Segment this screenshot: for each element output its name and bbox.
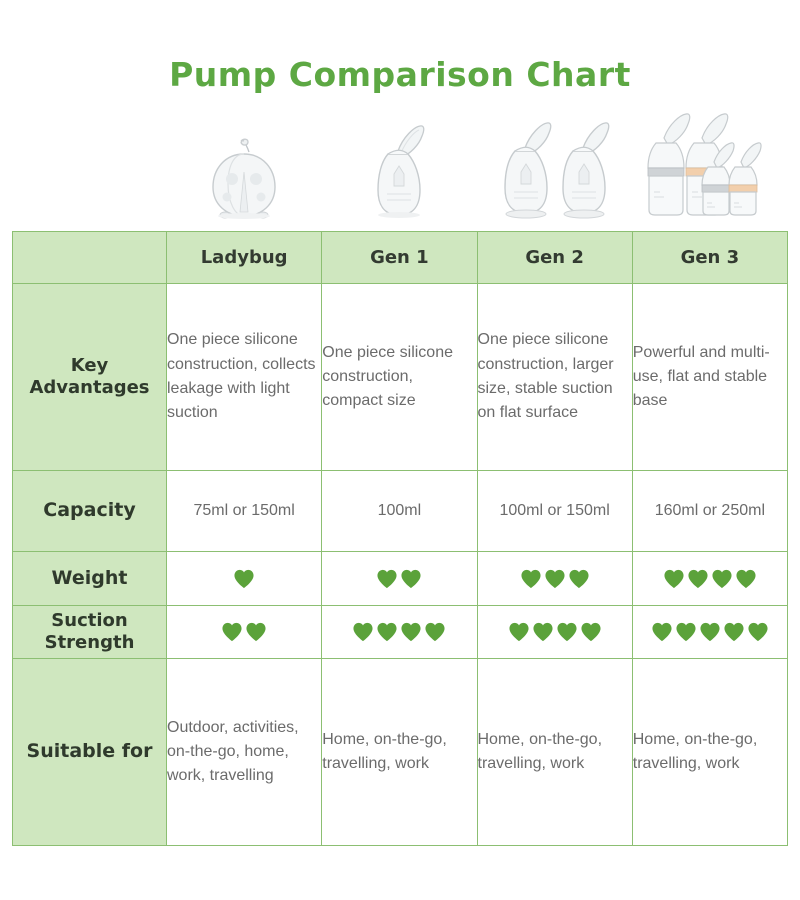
heart-icon	[675, 622, 697, 642]
table-header-row: Ladybug Gen 1 Gen 2 Gen 3	[13, 232, 788, 284]
product-image-ladybug	[167, 109, 322, 224]
cell-weight-gen-2	[477, 552, 632, 606]
cell-key-advantages-gen-3: Powerful and multi-use, flat and stable …	[632, 284, 787, 471]
cell-key-advantages-gen-2: One piece silicone construction, larger …	[477, 284, 632, 471]
row-label-suction-strength: SuctionStrength	[13, 606, 167, 659]
heart-icon	[221, 622, 243, 642]
heart-icon	[245, 622, 267, 642]
pump-comparison-table: Ladybug Gen 1 Gen 2 Gen 3 KeyAdvantagesO…	[12, 231, 788, 846]
cell-capacity-gen-2: 100ml or 150ml	[477, 471, 632, 552]
product-image-gen1	[322, 109, 477, 224]
heart-icon	[508, 622, 530, 642]
cell-key-advantages-ladybug: One piece silicone construction, collect…	[167, 284, 322, 471]
heart-icon	[424, 622, 446, 642]
table-row-capacity: Capacity75ml or 150ml100ml100ml or 150ml…	[13, 471, 788, 552]
product-image-strip	[13, 109, 788, 224]
column-header-gen1: Gen 1	[322, 232, 477, 284]
cell-capacity-gen-3: 160ml or 250ml	[632, 471, 787, 552]
heart-icon	[376, 569, 398, 589]
column-header-gen2: Gen 2	[477, 232, 632, 284]
cell-suitable-for-gen-3: Home, on-the-go, travelling, work	[632, 659, 787, 846]
cell-weight-gen-3	[632, 552, 787, 606]
heart-icon	[735, 569, 757, 589]
heart-icon	[747, 622, 769, 642]
heart-icon	[376, 622, 398, 642]
table-row-weight: Weight	[13, 552, 788, 606]
cell-weight-gen-1	[322, 552, 477, 606]
column-header-ladybug: Ladybug	[167, 232, 322, 284]
heart-icon	[651, 622, 673, 642]
product-image-gen3	[632, 109, 787, 224]
heart-icon	[711, 569, 733, 589]
cell-suitable-for-ladybug: Outdoor, activities, on-the-go, home, wo…	[167, 659, 322, 846]
heart-icon	[556, 622, 578, 642]
table-corner-cell	[13, 232, 167, 284]
product-image-gen2	[477, 109, 632, 224]
heart-icon	[544, 569, 566, 589]
table-row-key-advantages: KeyAdvantagesOne piece silicone construc…	[13, 284, 788, 471]
cell-suction-strength-gen-2	[477, 606, 632, 659]
cell-weight-ladybug	[167, 552, 322, 606]
heart-icon	[723, 622, 745, 642]
row-label-weight: Weight	[13, 552, 167, 606]
heart-icon	[532, 622, 554, 642]
table-row-suitable-for: Suitable forOutdoor, activities, on-the-…	[13, 659, 788, 846]
cell-suitable-for-gen-1: Home, on-the-go, travelling, work	[322, 659, 477, 846]
row-label-capacity: Capacity	[13, 471, 167, 552]
cell-key-advantages-gen-1: One piece silicone construction, compact…	[322, 284, 477, 471]
heart-icon	[568, 569, 590, 589]
cell-capacity-gen-1: 100ml	[322, 471, 477, 552]
heart-icon	[400, 569, 422, 589]
cell-capacity-ladybug: 75ml or 150ml	[167, 471, 322, 552]
table-body: KeyAdvantagesOne piece silicone construc…	[13, 284, 788, 846]
cell-suction-strength-gen-3	[632, 606, 787, 659]
heart-icon	[233, 569, 255, 589]
cell-suction-strength-gen-1	[322, 606, 477, 659]
row-label-suitable-for: Suitable for	[13, 659, 167, 846]
cell-suction-strength-ladybug	[167, 606, 322, 659]
heart-icon	[580, 622, 602, 642]
heart-icon	[663, 569, 685, 589]
heart-icon	[352, 622, 374, 642]
page-title: Pump Comparison Chart	[0, 0, 800, 91]
heart-icon	[699, 622, 721, 642]
table-row-suction-strength: SuctionStrength	[13, 606, 788, 659]
heart-icon	[687, 569, 709, 589]
heart-icon	[520, 569, 542, 589]
row-label-key-advantages: KeyAdvantages	[13, 284, 167, 471]
cell-suitable-for-gen-2: Home, on-the-go, travelling, work	[477, 659, 632, 846]
heart-icon	[400, 622, 422, 642]
column-header-gen3: Gen 3	[632, 232, 787, 284]
